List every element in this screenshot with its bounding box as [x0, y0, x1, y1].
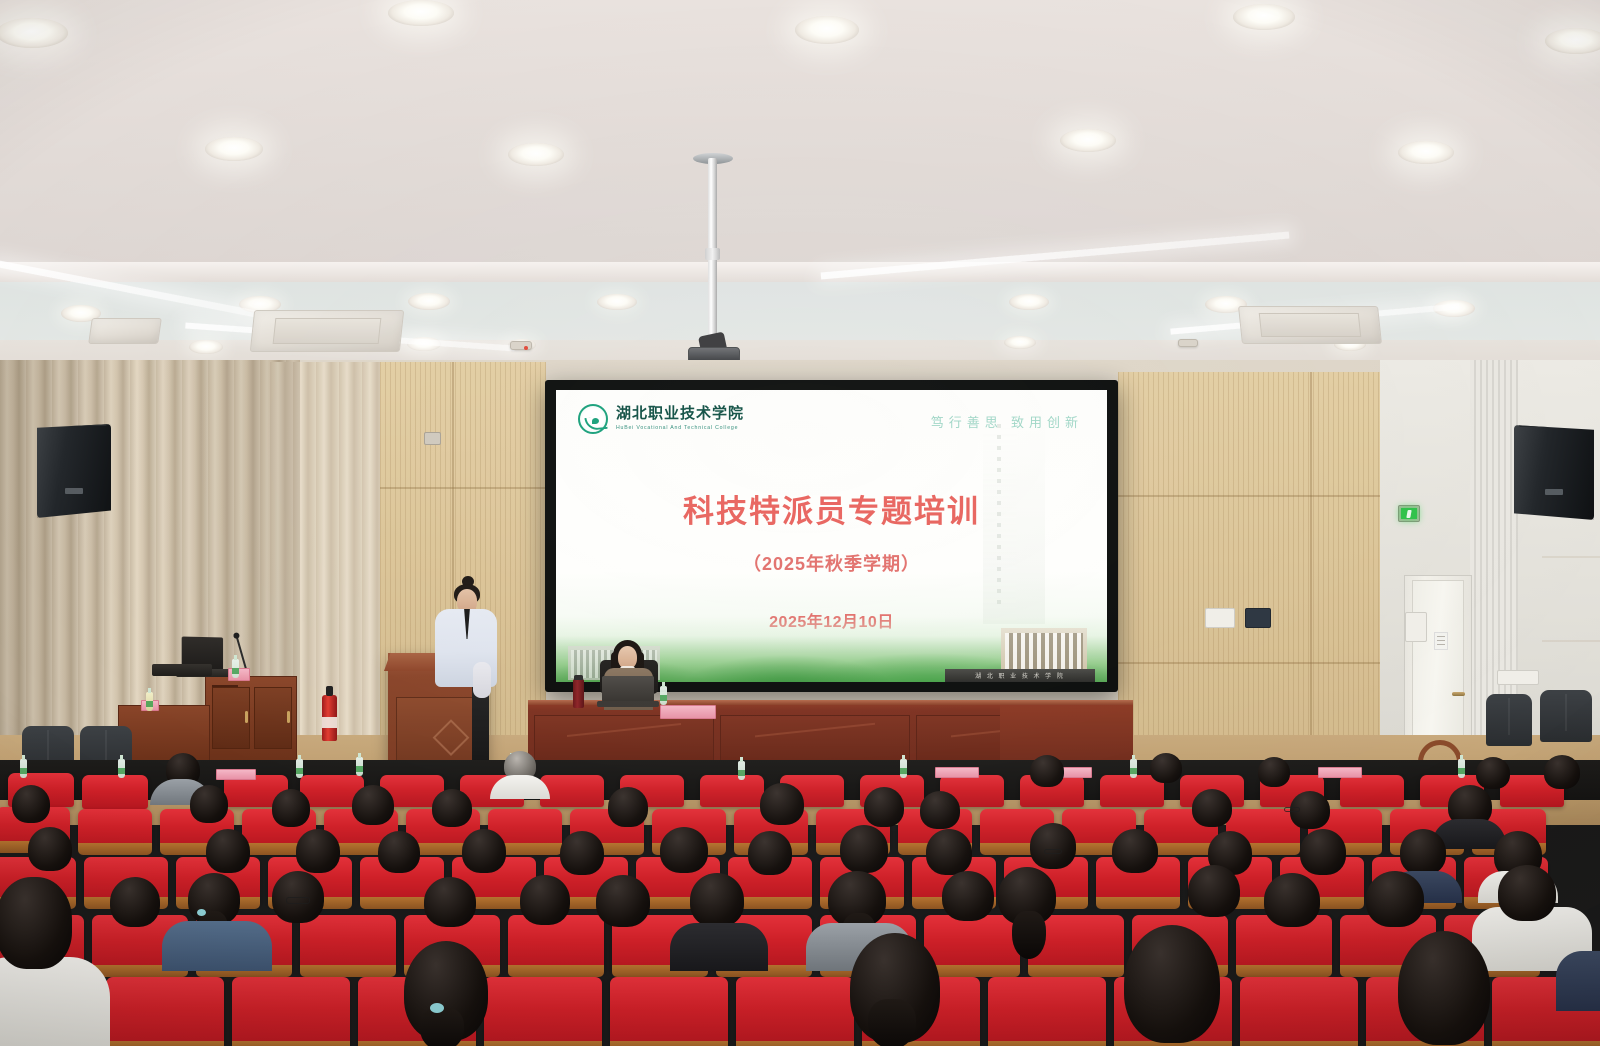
name-plate — [216, 769, 256, 780]
door-handle[interactable] — [1452, 692, 1465, 696]
ceiling-downlight — [205, 137, 263, 161]
wall-seam — [1542, 556, 1600, 558]
attendee-head — [760, 783, 804, 825]
wood-panel-seam — [1310, 372, 1312, 772]
seat-armrest — [106, 1041, 224, 1046]
seat-armrest — [232, 1041, 350, 1046]
ceiling-cove-lip — [0, 262, 1600, 284]
water-bottle — [1458, 759, 1465, 778]
attendee-head — [190, 785, 228, 823]
campus-signboard: 湖 北 职 业 技 术 学 院 — [945, 669, 1095, 682]
ceiling-downlight — [508, 143, 564, 166]
attendee-head — [660, 827, 708, 873]
smoke-detector-led — [524, 346, 528, 350]
wood-panel-seam — [1118, 495, 1408, 497]
presentation-screen[interactable]: 湖北职业技术学院 HuBei Vocational And Technical … — [556, 390, 1107, 682]
water-bottle — [356, 757, 363, 776]
attendee-head — [206, 829, 250, 873]
name-plate — [660, 705, 716, 719]
audience-seating — [0, 745, 1600, 1046]
ceiling-downlight — [1545, 28, 1600, 54]
water-bottle — [738, 761, 745, 780]
ceiling-downlight — [189, 340, 223, 354]
slide-subtitle: （2025年秋季学期） — [556, 550, 1107, 576]
attendee-head — [596, 875, 650, 927]
ceiling-downlight — [1004, 336, 1036, 349]
hair-scrunchie — [430, 1003, 444, 1013]
slide-slogan: 笃行善思 致用创新 — [931, 412, 1083, 431]
panel-chair[interactable] — [1540, 690, 1592, 742]
attendee-ponytail — [868, 999, 916, 1046]
auditorium-seat[interactable] — [106, 977, 224, 1046]
ac-vent — [88, 318, 162, 344]
attendee-head — [12, 785, 50, 823]
ceiling-upper — [0, 0, 1600, 272]
auditorium-seat[interactable] — [736, 977, 854, 1046]
cabinet-handle[interactable] — [245, 711, 248, 723]
water-bottle — [660, 686, 667, 705]
attendee-head — [690, 873, 744, 927]
slide-title: 科技特派员专题培训 — [556, 486, 1107, 531]
ceiling-downlight — [1398, 141, 1454, 164]
thermos-flask — [573, 679, 584, 708]
ac-vent-inner — [1259, 313, 1361, 336]
name-plate — [1318, 767, 1362, 778]
water-bottle — [118, 759, 125, 778]
water-bottle — [900, 759, 907, 778]
wall-panel-display — [1245, 608, 1271, 628]
attendee-head — [1300, 829, 1346, 875]
attendee-ponytail — [420, 1007, 464, 1046]
attendee-head — [1476, 757, 1510, 789]
seat-armrest — [1096, 897, 1180, 909]
seat-armrest — [1492, 1041, 1600, 1046]
ceiling-downlight — [597, 294, 637, 310]
attendee-shoulders — [0, 957, 110, 1046]
water-bottle — [296, 759, 303, 778]
seat-armrest — [736, 1041, 854, 1046]
attendee-head — [296, 829, 340, 873]
attendee-head — [462, 829, 506, 873]
attendee-head — [378, 831, 420, 873]
auditorium-seat[interactable] — [988, 977, 1106, 1046]
ceiling-downlight — [1060, 129, 1116, 152]
auditorium-seat[interactable] — [1340, 775, 1404, 807]
smoke-detector-icon — [1178, 339, 1198, 347]
attendee-head — [28, 827, 72, 871]
attendee-head — [1400, 829, 1446, 875]
attendee-head — [1030, 823, 1076, 869]
exit-sign-glow — [1401, 508, 1417, 519]
ceiling-downlight — [795, 16, 859, 44]
attendee-head — [1112, 829, 1158, 873]
wood-wall-panel-right — [1118, 372, 1408, 772]
auditorium-photo: 湖北职业技术学院 HuBei Vocational And Technical … — [0, 0, 1600, 1046]
attendee-head — [560, 831, 604, 875]
attendee-head — [1264, 873, 1320, 927]
attendee-head — [920, 791, 960, 829]
ceiling-downlight — [1233, 4, 1295, 30]
seat-armrest — [1028, 965, 1124, 977]
attendee-head — [1498, 865, 1556, 921]
seat-armrest — [610, 1041, 728, 1046]
ac-vent-inner — [272, 318, 381, 344]
water-bottle — [20, 759, 27, 778]
water-bottle — [232, 659, 239, 678]
attendee-head — [1188, 865, 1240, 917]
speaker-badge — [1545, 489, 1563, 495]
seat-armrest — [300, 965, 396, 977]
auditorium-seat[interactable] — [300, 915, 396, 971]
attendee-ponytail — [1012, 911, 1046, 959]
attendee-head — [748, 831, 792, 875]
eyeglasses-icon — [1044, 849, 1062, 854]
head-table-laptop[interactable] — [602, 676, 654, 702]
cabinet-handle[interactable] — [287, 711, 290, 723]
auditorium-seat[interactable] — [610, 977, 728, 1046]
running-man-icon — [1406, 510, 1411, 518]
camera-pole-joint — [705, 248, 720, 260]
ceiling-downlight — [408, 293, 450, 310]
attendee-head — [926, 829, 972, 875]
institution-name-en: HuBei Vocational And Technical College — [616, 425, 744, 431]
ceiling-downlight — [388, 0, 454, 26]
seat-armrest — [1236, 965, 1332, 977]
speaker-badge — [65, 488, 83, 494]
water-bottle — [1130, 759, 1137, 778]
college-emblem-icon — [578, 404, 608, 434]
attendee-head — [942, 871, 994, 921]
attendee-head — [1124, 925, 1220, 1043]
seat-armrest — [1240, 1041, 1358, 1046]
seat-armrest — [988, 1041, 1106, 1046]
hair-scrunchie — [197, 909, 206, 916]
ac-vent — [1238, 306, 1382, 344]
attendee-head — [1258, 757, 1290, 787]
presenter-arm — [473, 662, 491, 698]
attendee-head — [424, 877, 476, 927]
attendee-head — [1398, 931, 1490, 1045]
ac-vent — [250, 310, 404, 352]
attendee-head — [608, 787, 648, 827]
auditorium-seat[interactable] — [924, 915, 1020, 971]
attendee-head — [1366, 871, 1424, 927]
wall-seam — [1542, 640, 1600, 642]
smoke-detector-icon — [510, 341, 532, 350]
seat-armrest — [508, 965, 604, 977]
panel-chair[interactable] — [1486, 694, 1532, 746]
attendee-head — [432, 789, 472, 827]
water-bottle — [146, 692, 153, 711]
audio-mixer[interactable] — [152, 664, 212, 676]
auditorium-seat[interactable] — [78, 809, 152, 849]
attendee-head — [1544, 755, 1580, 789]
auditorium-seat[interactable] — [1240, 977, 1358, 1046]
exit-sign-icon — [1398, 505, 1420, 522]
fire-extinguisher-icon — [322, 695, 337, 741]
institution-name-cn: 湖北职业技术学院 — [616, 407, 744, 423]
attendee-head — [0, 877, 72, 969]
attendee-head — [1192, 789, 1232, 827]
wall-control-panel[interactable] — [1405, 612, 1427, 642]
attendee-head — [110, 877, 160, 927]
wall-power-outlet[interactable] — [1497, 670, 1539, 685]
auditorium-seat[interactable] — [540, 775, 604, 807]
auditorium-seat[interactable] — [484, 977, 602, 1046]
attendee-head — [352, 785, 394, 825]
auditorium-seat[interactable] — [82, 775, 148, 809]
attendee-shoulders — [162, 921, 272, 971]
slide-institution-logo: 湖北职业技术学院 HuBei Vocational And Technical … — [578, 404, 744, 434]
eyeglasses-icon — [1284, 807, 1300, 812]
seat-armrest — [484, 1041, 602, 1046]
attendee-head — [1150, 753, 1182, 783]
wall-power-outlet[interactable] — [1205, 608, 1235, 628]
attendee-head — [1030, 755, 1064, 787]
wall-junction-box — [424, 432, 441, 445]
auditorium-seat[interactable] — [232, 977, 350, 1046]
name-plate — [935, 767, 979, 778]
ceiling-downlight — [1009, 294, 1049, 310]
door-notice-sign — [1434, 632, 1448, 650]
attendee-shoulders — [1556, 951, 1600, 1011]
campus-signboard-text: 湖 北 职 业 技 术 学 院 — [975, 671, 1065, 680]
attendee-head — [840, 825, 888, 873]
wall-speaker-left — [37, 424, 111, 518]
attendee-head — [520, 875, 570, 925]
attendee-head — [864, 787, 904, 827]
seat-armrest — [78, 843, 152, 855]
eyeglasses-icon — [286, 897, 310, 904]
wall-speaker-right — [1514, 425, 1594, 520]
wood-panel-seam — [1118, 662, 1408, 664]
attendee-head — [272, 789, 310, 827]
attendee-shoulders — [670, 923, 768, 971]
auditorium-seat[interactable] — [700, 775, 764, 807]
